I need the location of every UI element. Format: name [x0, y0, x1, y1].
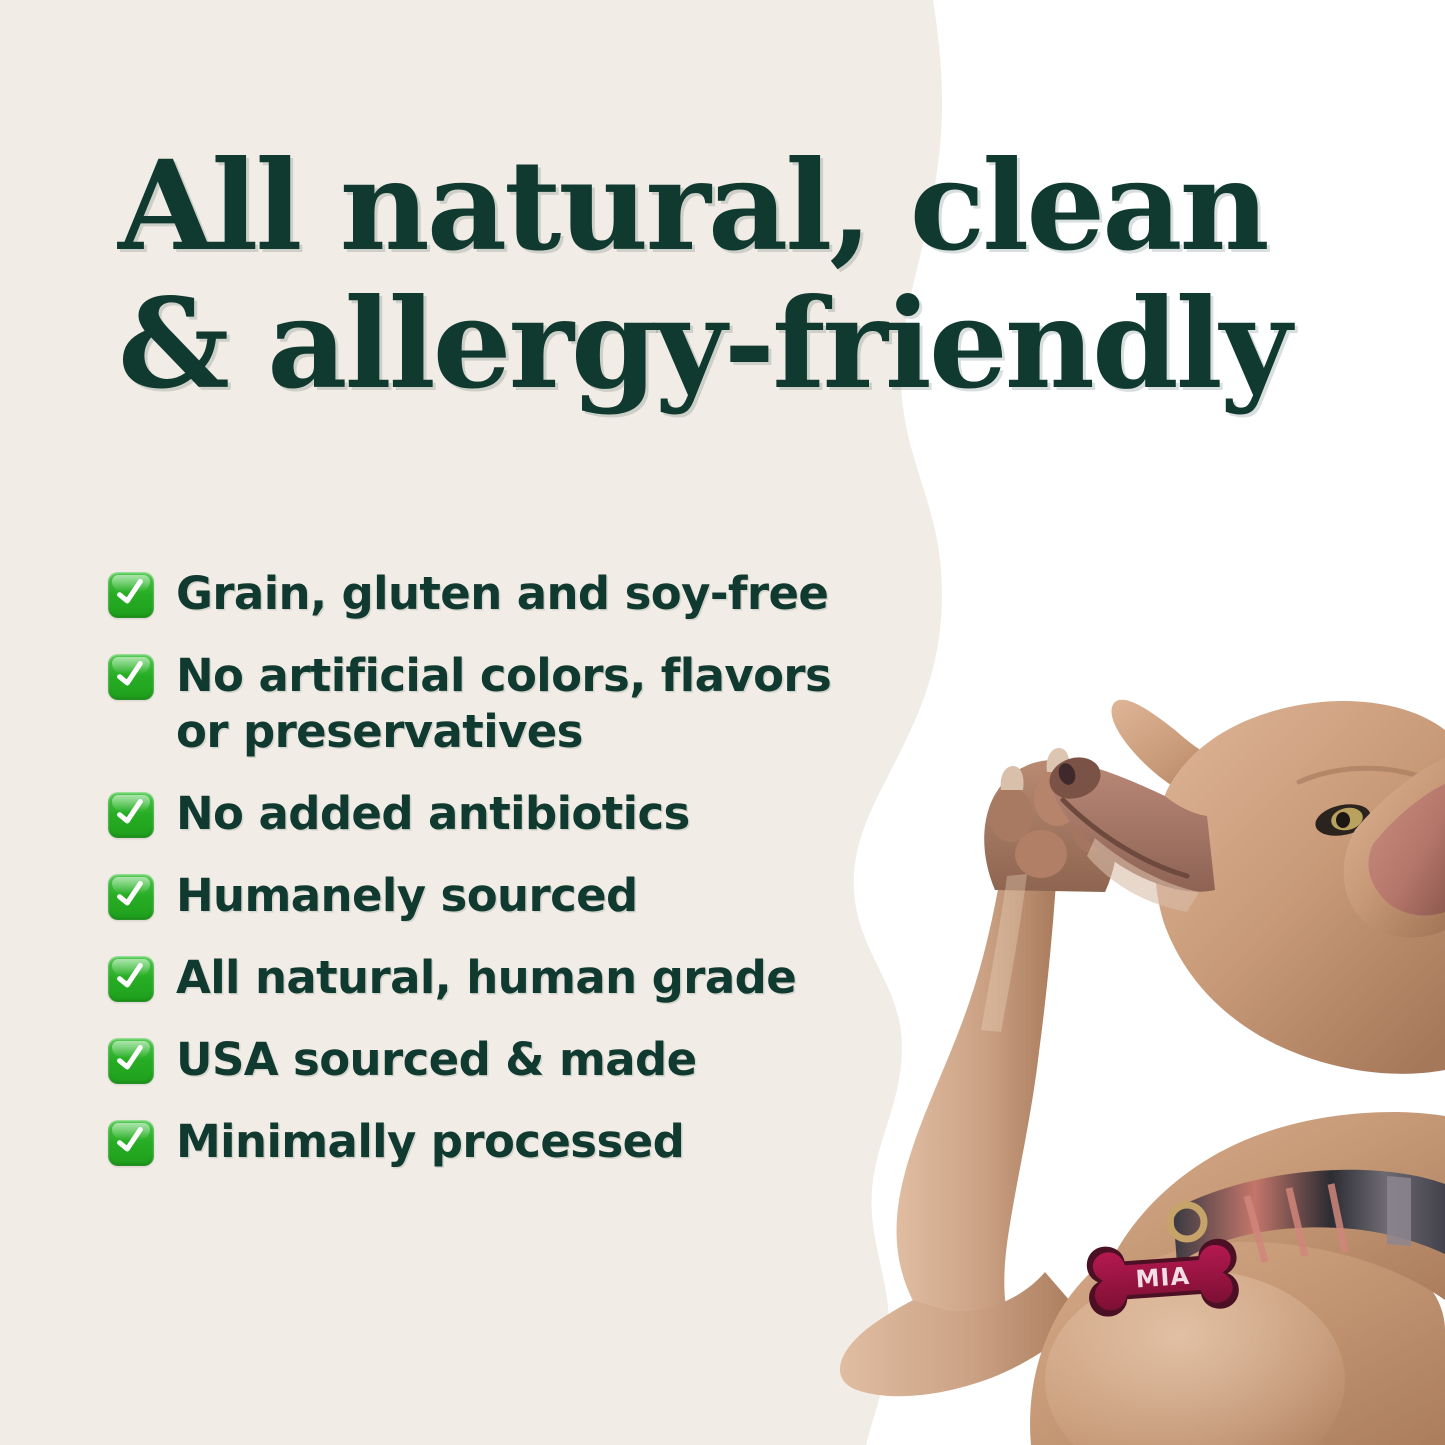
feature-label: No artificial colors, flavors or preserv…	[176, 648, 898, 760]
list-item: USA sourced & made	[108, 1032, 898, 1088]
check-box-green-icon	[108, 1120, 154, 1166]
check-box-green-icon	[108, 1038, 154, 1084]
feature-label: All natural, human grade	[176, 950, 796, 1006]
promo-card: MIA All natural, clean & allergy-friendl…	[0, 0, 1445, 1445]
check-box-green-icon	[108, 792, 154, 838]
list-item: No artificial colors, flavors or preserv…	[108, 648, 898, 760]
list-item: No added antibiotics	[108, 786, 898, 842]
list-item: All natural, human grade	[108, 950, 898, 1006]
dog-collar-buckle	[1387, 1176, 1411, 1246]
check-mark-icon	[114, 658, 147, 691]
dog-body-group	[1030, 1112, 1445, 1445]
check-box-green-icon	[108, 572, 154, 618]
dog-toe-pad	[1015, 830, 1067, 878]
dog-foreleg	[897, 868, 1057, 1344]
feature-label: Humanely sourced	[176, 868, 638, 924]
feature-list: Grain, gluten and soy-free No artificial…	[108, 566, 898, 1170]
check-mark-icon	[114, 576, 147, 609]
tag-name-text: MIA	[1135, 1262, 1191, 1294]
check-mark-icon	[114, 796, 147, 829]
check-mark-icon	[114, 1124, 147, 1157]
list-item: Grain, gluten and soy-free	[108, 566, 898, 622]
list-item: Humanely sourced	[108, 868, 898, 924]
feature-label: Grain, gluten and soy-free	[176, 566, 828, 622]
check-box-green-icon	[108, 874, 154, 920]
check-box-green-icon	[108, 956, 154, 1002]
dog-eye-pupil	[1336, 812, 1350, 828]
check-mark-icon	[114, 878, 147, 911]
check-mark-icon	[114, 1042, 147, 1075]
feature-label: No added antibiotics	[176, 786, 690, 842]
feature-label: USA sourced & made	[176, 1032, 697, 1088]
check-box-green-icon	[108, 654, 154, 700]
feature-label: Minimally processed	[176, 1114, 684, 1170]
dog-toe-pad	[989, 788, 1033, 842]
check-mark-icon	[114, 960, 147, 993]
list-item: Minimally processed	[108, 1114, 898, 1170]
page-title: All natural, clean & allergy-friendly	[118, 138, 1298, 414]
